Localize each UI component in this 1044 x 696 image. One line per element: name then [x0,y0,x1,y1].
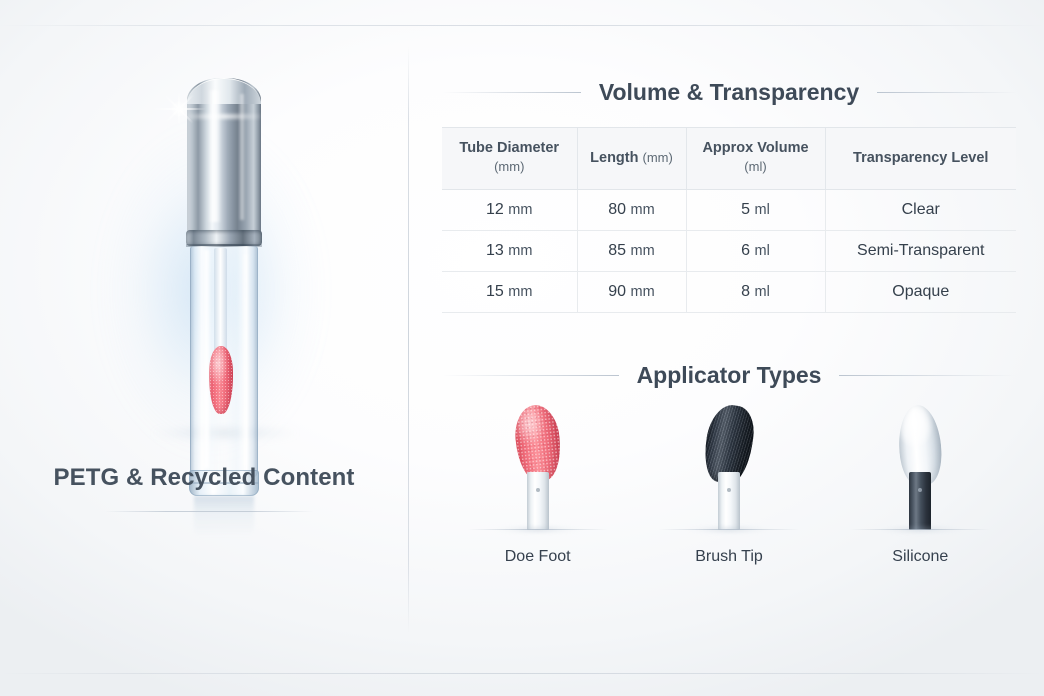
applicator-list: Doe Foot Brush Tip [442,405,1016,566]
cell-approx-volume: 5 ml [686,190,825,231]
cell-approx-volume: 8 ml [686,272,825,313]
volume-section-header: Volume & Transparency [442,79,1016,106]
cell-unit: ml [755,284,770,300]
column-header-label: Transparency Level [853,150,988,166]
applicator-item-silicone[interactable]: Silicone [845,405,995,566]
cell-transparency: Opaque [825,272,1016,313]
cell-tube-diameter: 12 mm [442,190,577,231]
applicator-label: Doe Foot [463,548,613,566]
cell-unit: mm [631,284,655,300]
table-header-row: Tube Diameter (mm) Length (mm) Approx Vo… [442,128,1016,190]
tube-reflection [194,496,254,536]
section-rule-right [839,375,1016,376]
cell-value: 80 [608,201,626,218]
tube-wand-shaft [214,248,227,356]
table-row[interactable]: 13 mm 85 mm 6 ml Semi-Transparent [442,231,1016,272]
specs-panel: Volume & Transparency Tube Diameter (mm)… [408,0,1044,696]
sparkle-highlight-icon [152,82,206,136]
cell-value: 5 [741,201,750,218]
silicone-stem [909,472,931,530]
infographic-page: PETG & Recycled Content Volume & Transpa… [0,0,1044,696]
cell-value: 8 [741,283,750,300]
stem-dot [536,488,540,492]
cell-value: 85 [608,242,626,259]
product-panel: PETG & Recycled Content [0,0,408,696]
sparkle-core [171,101,187,117]
cell-value: 6 [741,242,750,259]
cell-unit: mm [508,243,532,259]
column-header-unit: (ml) [744,159,766,174]
tube-inner-applicator-texture [209,346,233,414]
tube-cap-gloss-secondary [239,94,245,220]
applicator-label: Brush Tip [654,548,804,566]
cell-value: 90 [608,283,626,300]
column-header-tube-diameter[interactable]: Tube Diameter (mm) [442,128,577,190]
applicator-section-header: Applicator Types [442,362,1016,389]
doe-foot-stem [527,472,549,530]
cell-tube-diameter: 13 mm [442,231,577,272]
product-caption-rule [104,511,314,512]
silicone-applicator-icon [845,405,995,530]
table-row[interactable]: 15 mm 90 mm 8 ml Opaque [442,272,1016,313]
column-header-length[interactable]: Length (mm) [577,128,686,190]
cell-unit: mm [631,243,655,259]
stem-dot [918,488,922,492]
applicator-baseline [468,529,608,530]
cell-transparency: Semi-Transparent [825,231,1016,272]
product-caption: PETG & Recycled Content [0,464,408,492]
column-header-transparency-level[interactable]: Transparency Level [825,128,1016,190]
cell-tube-diameter: 15 mm [442,272,577,313]
tube-body-gloss [202,250,211,468]
brush-tip-applicator-icon [654,405,804,530]
section-rule-left [442,375,619,376]
column-header-approx-volume[interactable]: Approx Volume (ml) [686,128,825,190]
cell-unit: ml [755,243,770,259]
cell-unit: mm [508,202,532,218]
volume-section-title: Volume & Transparency [599,79,859,106]
applicator-baseline [659,529,799,530]
cell-length: 85 mm [577,231,686,272]
cell-value: 13 [486,242,504,259]
cell-value: 12 [486,201,504,218]
column-header-unit: (mm) [494,159,524,174]
tube-cap-gloss [208,90,221,222]
column-header-label: Approx Volume [702,140,808,156]
applicator-label: Silicone [845,548,995,566]
applicator-item-brush-tip[interactable]: Brush Tip [654,405,804,566]
cell-approx-volume: 6 ml [686,231,825,272]
volume-transparency-table: Tube Diameter (mm) Length (mm) Approx Vo… [442,127,1016,313]
section-rule-right [877,92,1016,93]
table-row[interactable]: 12 mm 80 mm 5 ml Clear [442,190,1016,231]
cell-transparency: Clear [825,190,1016,231]
applicator-item-doe-foot[interactable]: Doe Foot [463,405,613,566]
section-rule-left [442,92,581,93]
column-header-label: Tube Diameter [459,140,559,156]
applicator-section-title: Applicator Types [637,362,822,389]
cell-value: 15 [486,283,504,300]
brush-tip-stem [718,472,740,530]
stem-dot [727,488,731,492]
applicator-baseline [850,529,990,530]
cell-unit: ml [755,202,770,218]
doe-foot-applicator-icon [463,405,613,530]
cell-length: 80 mm [577,190,686,231]
cell-length: 90 mm [577,272,686,313]
column-header-label: Length [590,150,638,166]
tube-body-gloss-secondary [242,254,249,466]
column-header-unit: (mm) [643,150,673,165]
cell-unit: mm [631,202,655,218]
cell-unit: mm [508,284,532,300]
